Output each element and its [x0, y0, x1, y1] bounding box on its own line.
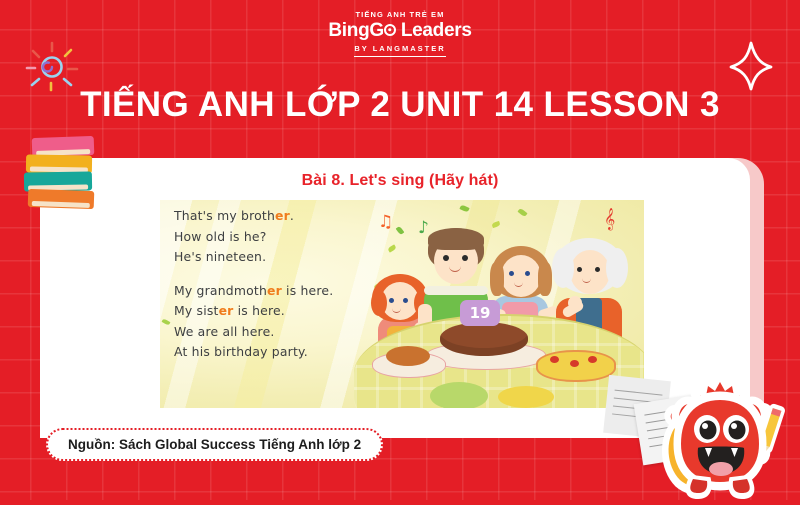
birthday-party-scene: 19 — [368, 200, 644, 408]
pizza-topping — [550, 356, 559, 363]
source-note: Nguồn: Sách Global Success Tiếng Anh lớp… — [46, 428, 383, 461]
lyric-line: My sister is here. — [174, 301, 389, 322]
four-point-star-icon — [728, 40, 774, 92]
bananas — [498, 386, 554, 408]
lesson-illustration: That's my brother. How old is he? He's n… — [160, 200, 644, 408]
red-monster-mascot-icon — [652, 372, 788, 500]
book-orange — [28, 189, 95, 209]
brand-logo: TIẾNG ANH TRẺ EM BingG Leaders BY LANGMA… — [0, 10, 800, 57]
lyric-line: We are all here. — [174, 322, 389, 343]
brand-name-part1: BingG — [328, 20, 384, 41]
brand-name: BingG Leaders — [328, 20, 471, 41]
lyric-line: At his birthday party. — [174, 342, 389, 363]
brand-tagline-top: TIẾNG ANH TRẺ EM — [356, 10, 445, 20]
beamed-eighth-notes-icon: ♫ — [378, 212, 393, 232]
food-left — [386, 346, 430, 366]
candle-number: 19 — [460, 300, 500, 326]
page-title: TIẾNG ANH LỚP 2 UNIT 14 LESSON 3 — [0, 84, 800, 126]
song-lyrics: That's my brother. How old is he? He's n… — [174, 206, 389, 363]
treble-clef-icon: 𝄞 — [604, 208, 615, 230]
lyric-line: That's my brother. — [174, 206, 389, 227]
grapes-bowl — [430, 382, 488, 408]
stacked-books-icon — [22, 137, 100, 211]
pizza-topping — [570, 360, 579, 367]
lyric-spacer — [174, 268, 389, 281]
circle-dot-icon — [384, 24, 396, 36]
pizza-topping — [588, 356, 597, 363]
brand-name-part2: Leaders — [396, 20, 472, 41]
lesson-subtitle: Bài 8. Let's sing (Hãy hát) — [0, 172, 800, 190]
spiral-sun-icon — [20, 38, 84, 94]
eighth-note-icon: ♪ — [418, 218, 429, 238]
lyric-line: He's nineteen. — [174, 247, 389, 268]
birthday-cake — [440, 322, 528, 356]
brand-tagline-bottom: BY LANGMASTER — [354, 43, 445, 57]
lyric-line: How old is he? — [174, 227, 389, 248]
lyric-line: My grandmother is here. — [174, 281, 389, 302]
